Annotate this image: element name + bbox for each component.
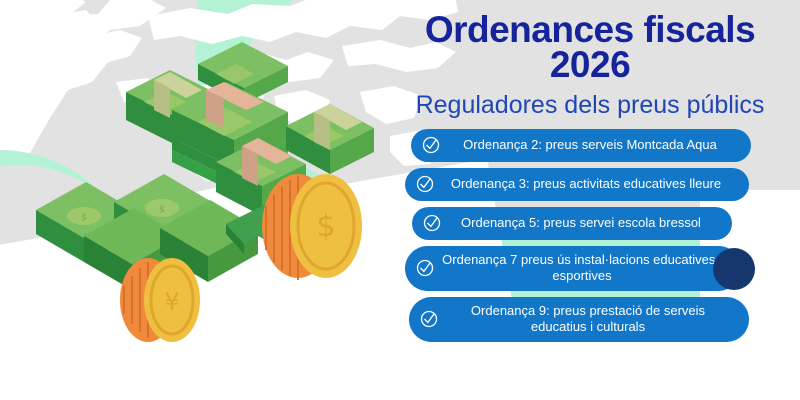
money-stacks-illustration: $ $	[30, 40, 400, 360]
title-line-2: 2026	[388, 47, 792, 82]
list-item-label: Ordenança 5: preus servei escola bressol	[448, 215, 718, 231]
green-arrow	[226, 202, 312, 262]
poster-canvas: $ $	[0, 0, 800, 400]
list-item[interactable]: Ordenança 3: preus activitats educatives…	[405, 168, 749, 201]
page-subtitle: Reguladores dels preus públics	[388, 92, 792, 120]
list-item-label: Ordenança 7 preus ús instal·lacions educ…	[441, 252, 727, 285]
page-title: Ordenances fiscals 2026	[388, 12, 792, 82]
check-circle-icon	[420, 310, 438, 328]
banknote-stack-back	[126, 42, 374, 216]
gold-coin-dollar: $	[262, 174, 362, 280]
list-item[interactable]: Ordenança 5: preus servei escola bressol	[412, 207, 732, 240]
list-item[interactable]: Ordenança 9: preus prestació de serveis …	[409, 297, 749, 342]
gold-coin-yen: ¥	[120, 258, 200, 342]
svg-text:¥: ¥	[164, 288, 179, 316]
list-item[interactable]: Ordenança 2: preus serveis Montcada Aqua	[411, 129, 751, 162]
svg-text:$: $	[159, 205, 165, 215]
list-item[interactable]: Ordenança 7 preus ús instal·lacions educ…	[405, 246, 741, 291]
svg-text:$: $	[316, 209, 335, 244]
background-mint-circle-bottomleft	[0, 150, 150, 400]
banknote-stack-front: $ $	[36, 174, 258, 290]
list-item-label: Ordenança 9: preus prestació de serveis …	[445, 303, 735, 336]
check-circle-icon	[422, 136, 440, 154]
list-item-label: Ordenança 2: preus serveis Montcada Aqua	[447, 137, 737, 153]
svg-text:$: $	[81, 213, 87, 223]
list-item-label: Ordenança 3: preus activitats educatives…	[441, 176, 735, 192]
check-circle-icon	[416, 175, 434, 193]
check-circle-icon	[423, 214, 441, 232]
content-column: Ordenances fiscals 2026 Reguladores dels…	[388, 12, 792, 348]
check-circle-icon	[416, 259, 434, 277]
ordinance-list: Ordenança 2: preus serveis Montcada Aqua…	[388, 129, 792, 342]
background-gray-circle-bottomleft	[0, 165, 155, 400]
pill-shadow-circle	[713, 248, 755, 290]
